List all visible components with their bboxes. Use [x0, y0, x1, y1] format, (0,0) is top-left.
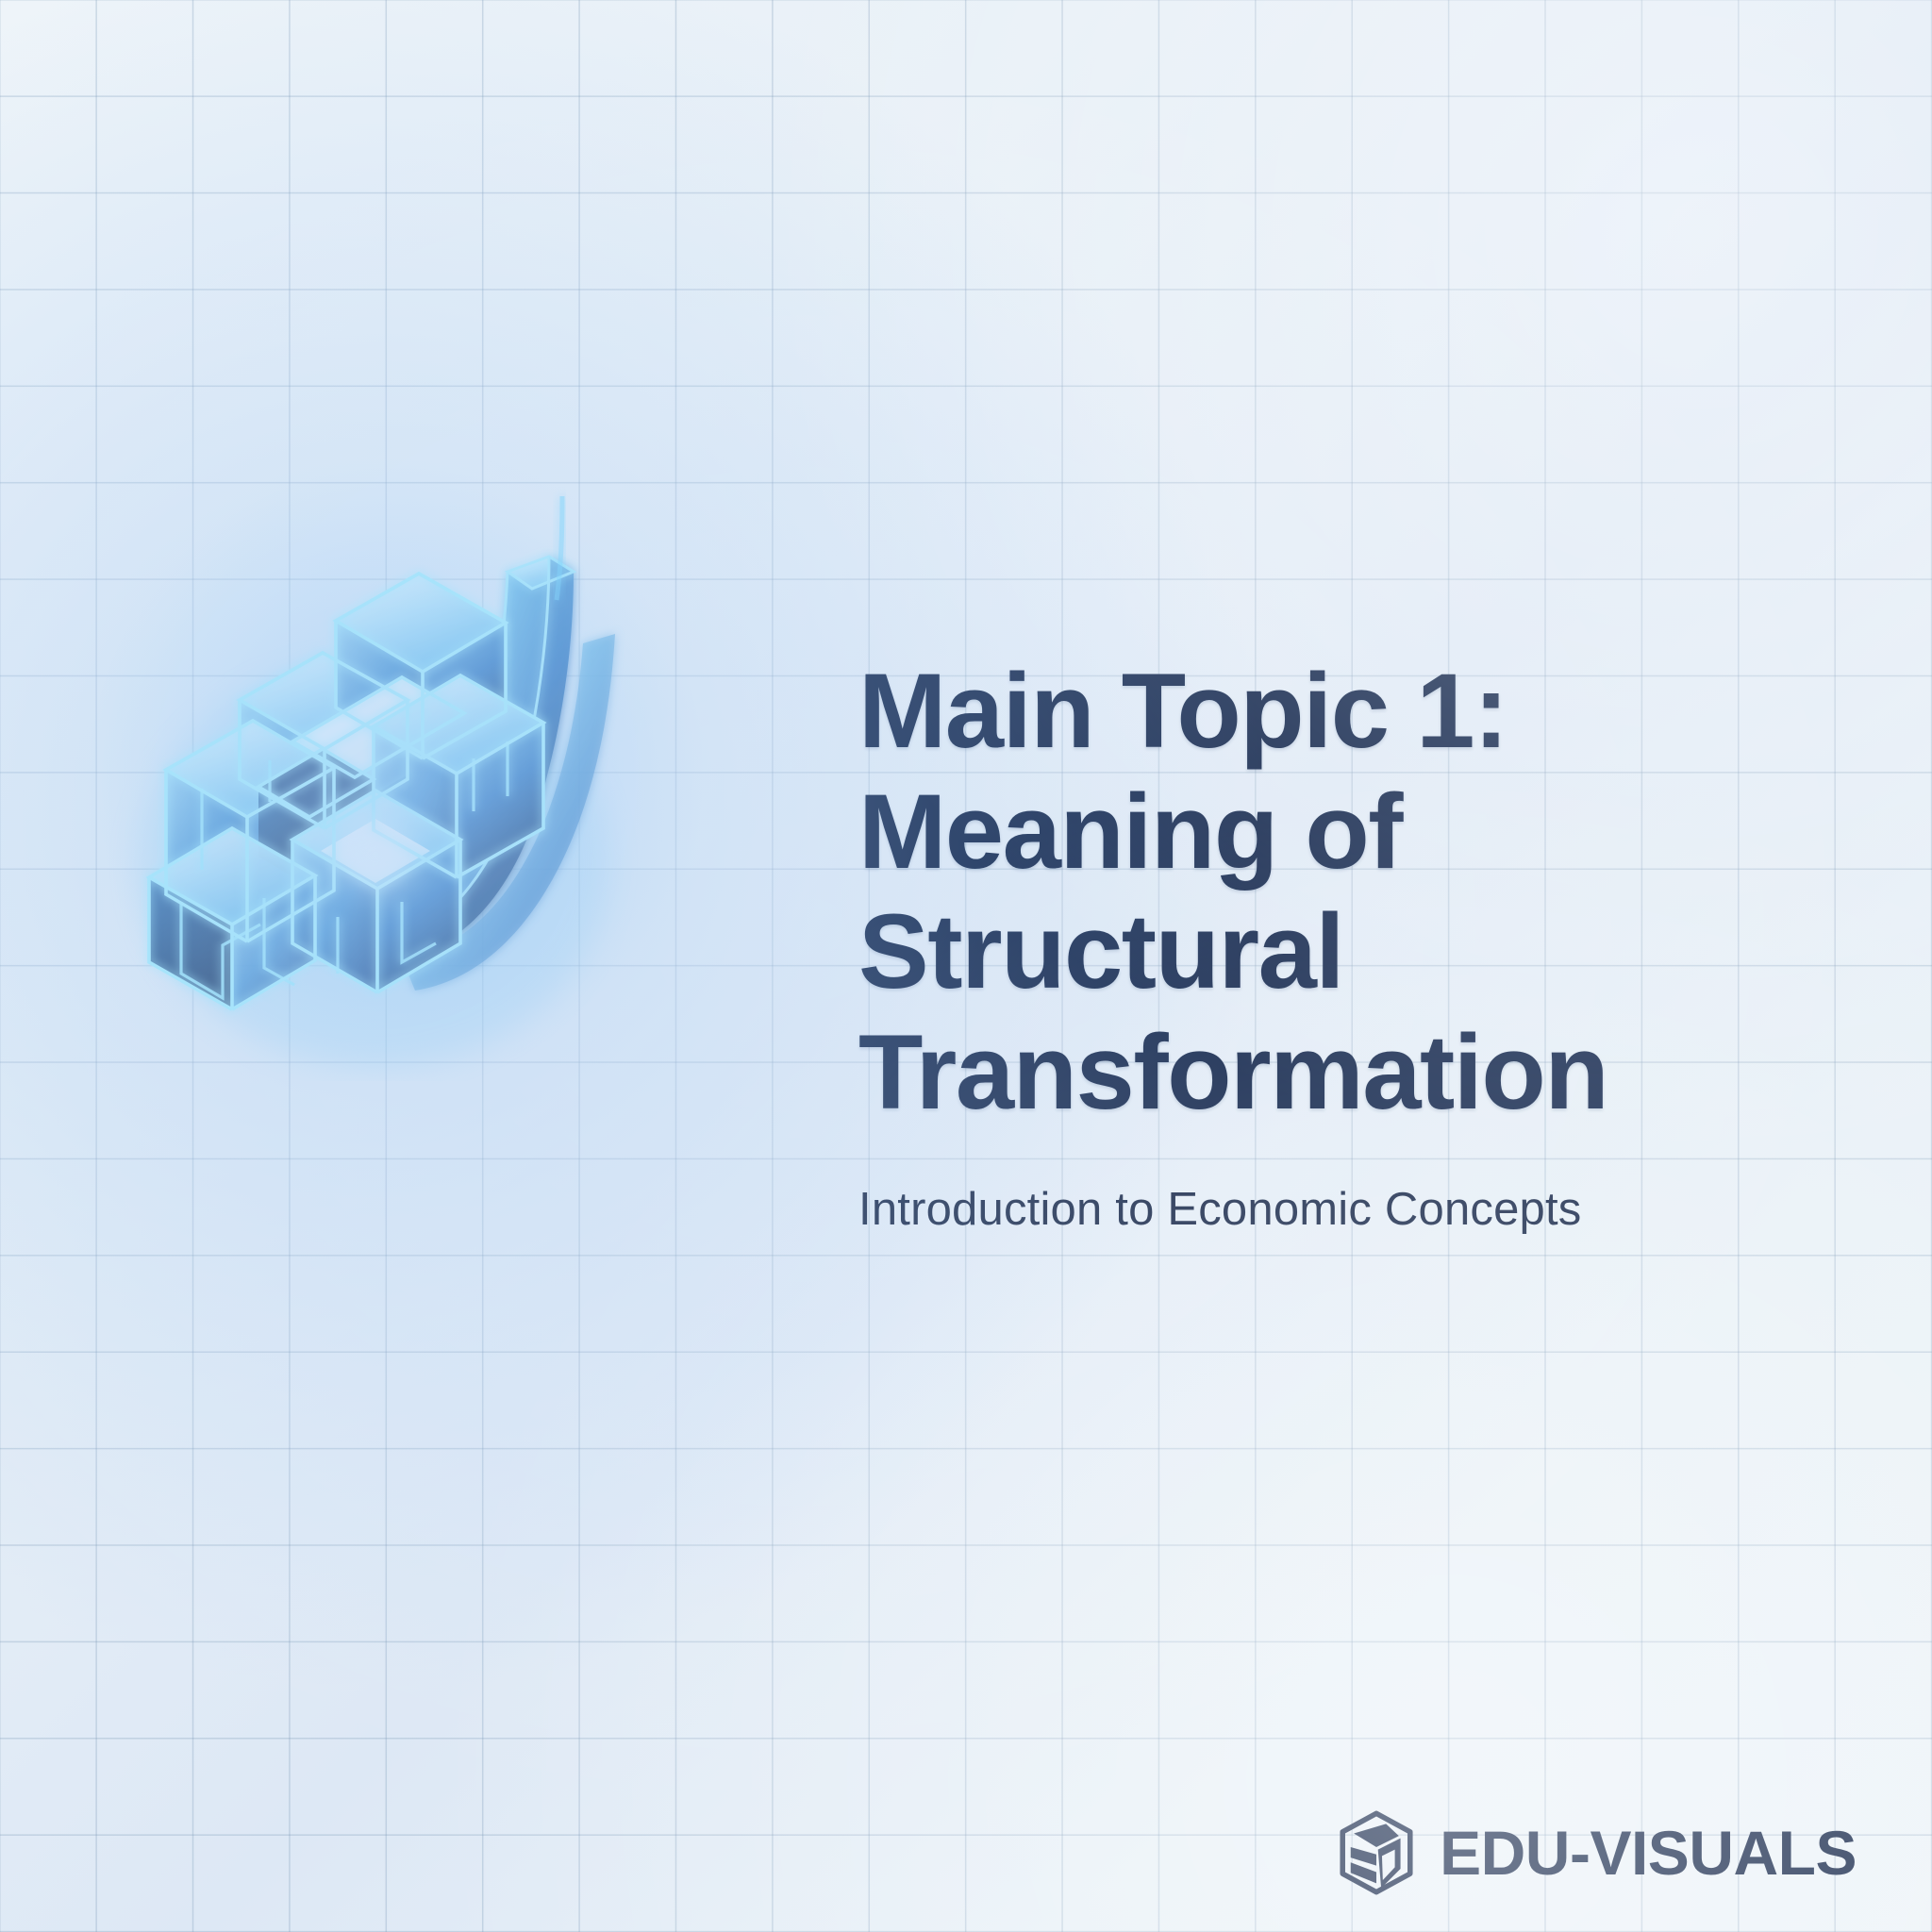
page-title: Main Topic 1: Meaning of Structural Tran…: [858, 651, 1802, 1133]
hexagon-ev-monogram-icon: [1336, 1809, 1417, 1896]
slide-canvas: Main Topic 1: Meaning of Structural Tran…: [0, 0, 1932, 1932]
brand-lockup: EDU-VISUALS: [1336, 1809, 1857, 1896]
brand-name: EDU-VISUALS: [1440, 1822, 1857, 1884]
isometric-glowing-cube-with-flowing-ribbons-icon: [91, 458, 694, 1081]
page-subtitle: Introduction to Economic Concepts: [858, 1182, 1802, 1238]
title-block: Main Topic 1: Meaning of Structural Tran…: [858, 651, 1802, 1237]
